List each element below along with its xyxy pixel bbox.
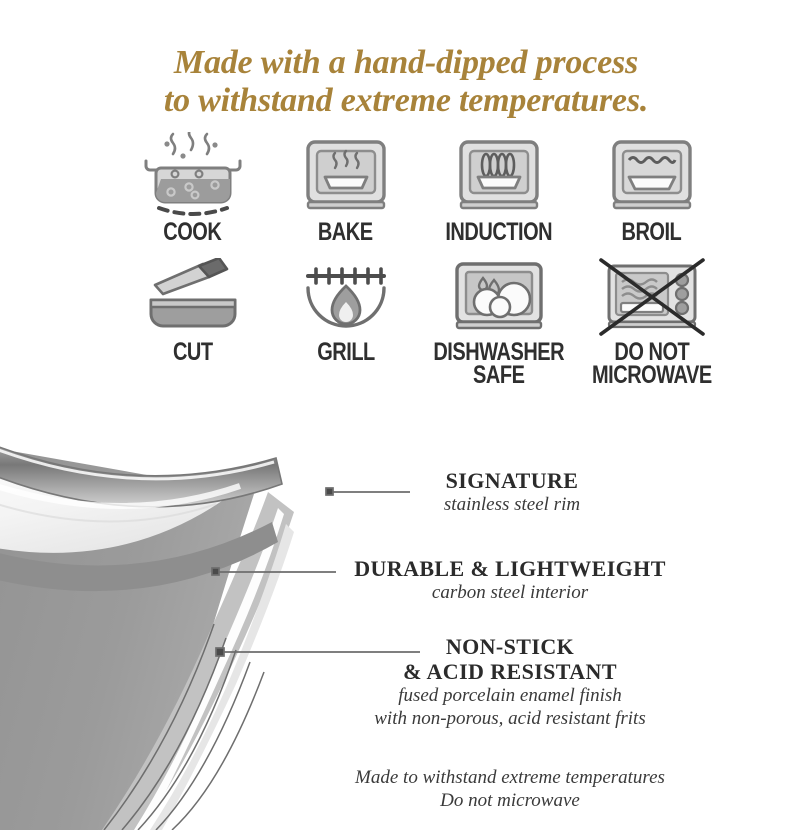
headline-line-2: to withstand extreme temperatures. (0, 82, 812, 120)
callout-signature-subtitle: stainless steel rim (352, 493, 672, 516)
feature-dishwasher-safe: DISHWASHER SAFE (422, 258, 575, 387)
feature-induction-label: INDUCTION (445, 221, 552, 244)
grill-grate-flame-icon (286, 258, 406, 338)
oven-broil-element-icon (592, 132, 712, 218)
callout-durable-subtitle: carbon steel interior (300, 581, 720, 604)
headline-line-1: Made with a hand-dipped process (174, 44, 638, 81)
feature-grill-label: GRILL (317, 341, 375, 364)
product-feature-infographic: Made with a hand-dipped process to withs… (0, 0, 812, 826)
callout-durable: DURABLE & LIGHTWEIGHT carbon steel inter… (300, 556, 720, 604)
feature-bake: BAKE (269, 132, 422, 244)
dishwasher-plates-icon (439, 258, 559, 338)
feature-do-not-microwave: DO NOT MICROWAVE (575, 258, 728, 387)
feature-icon-row-1: COOK (116, 132, 728, 244)
pot-with-steam-icon (133, 132, 253, 218)
feature-cut: CUT (116, 258, 269, 387)
footnote-line-2: Do not microwave (300, 789, 720, 812)
feature-cook-label: COOK (163, 221, 221, 244)
oven-induction-coil-icon (439, 132, 559, 218)
footnote-line-1: Made to withstand extreme temperatures (355, 767, 665, 788)
feature-cook: COOK (116, 132, 269, 244)
callout-signature-title: SIGNATURE (352, 468, 672, 493)
callout-nonstick-title: NON-STICK & ACID RESISTANT (300, 634, 720, 684)
microwave-crossed-out-icon (592, 258, 712, 338)
page-title: Made with a hand-dipped process to withs… (0, 44, 812, 120)
footnote: Made to withstand extreme temperatures D… (300, 766, 720, 812)
feature-grill: GRILL (269, 258, 422, 387)
callout-signature: SIGNATURE stainless steel rim (352, 468, 672, 516)
feature-bake-label: BAKE (318, 221, 373, 244)
feature-icon-grid: COOK (116, 132, 728, 387)
callout-nonstick-subtitle: fused porcelain enamel finish with non-p… (300, 684, 720, 730)
knife-over-pan-icon (133, 258, 253, 338)
feature-icon-row-2: CUT (116, 258, 728, 387)
feature-cut-label: CUT (173, 341, 213, 364)
oven-bake-icon (286, 132, 406, 218)
callout-durable-title: DURABLE & LIGHTWEIGHT (300, 556, 720, 581)
feature-broil: BROIL (575, 132, 728, 244)
feature-broil-label: BROIL (622, 221, 682, 244)
feature-do-not-microwave-label: DO NOT MICROWAVE (592, 341, 712, 387)
feature-dishwasher-safe-label: DISHWASHER SAFE (433, 341, 564, 387)
feature-induction: INDUCTION (422, 132, 575, 244)
callout-nonstick: NON-STICK & ACID RESISTANT fused porcela… (300, 634, 720, 730)
